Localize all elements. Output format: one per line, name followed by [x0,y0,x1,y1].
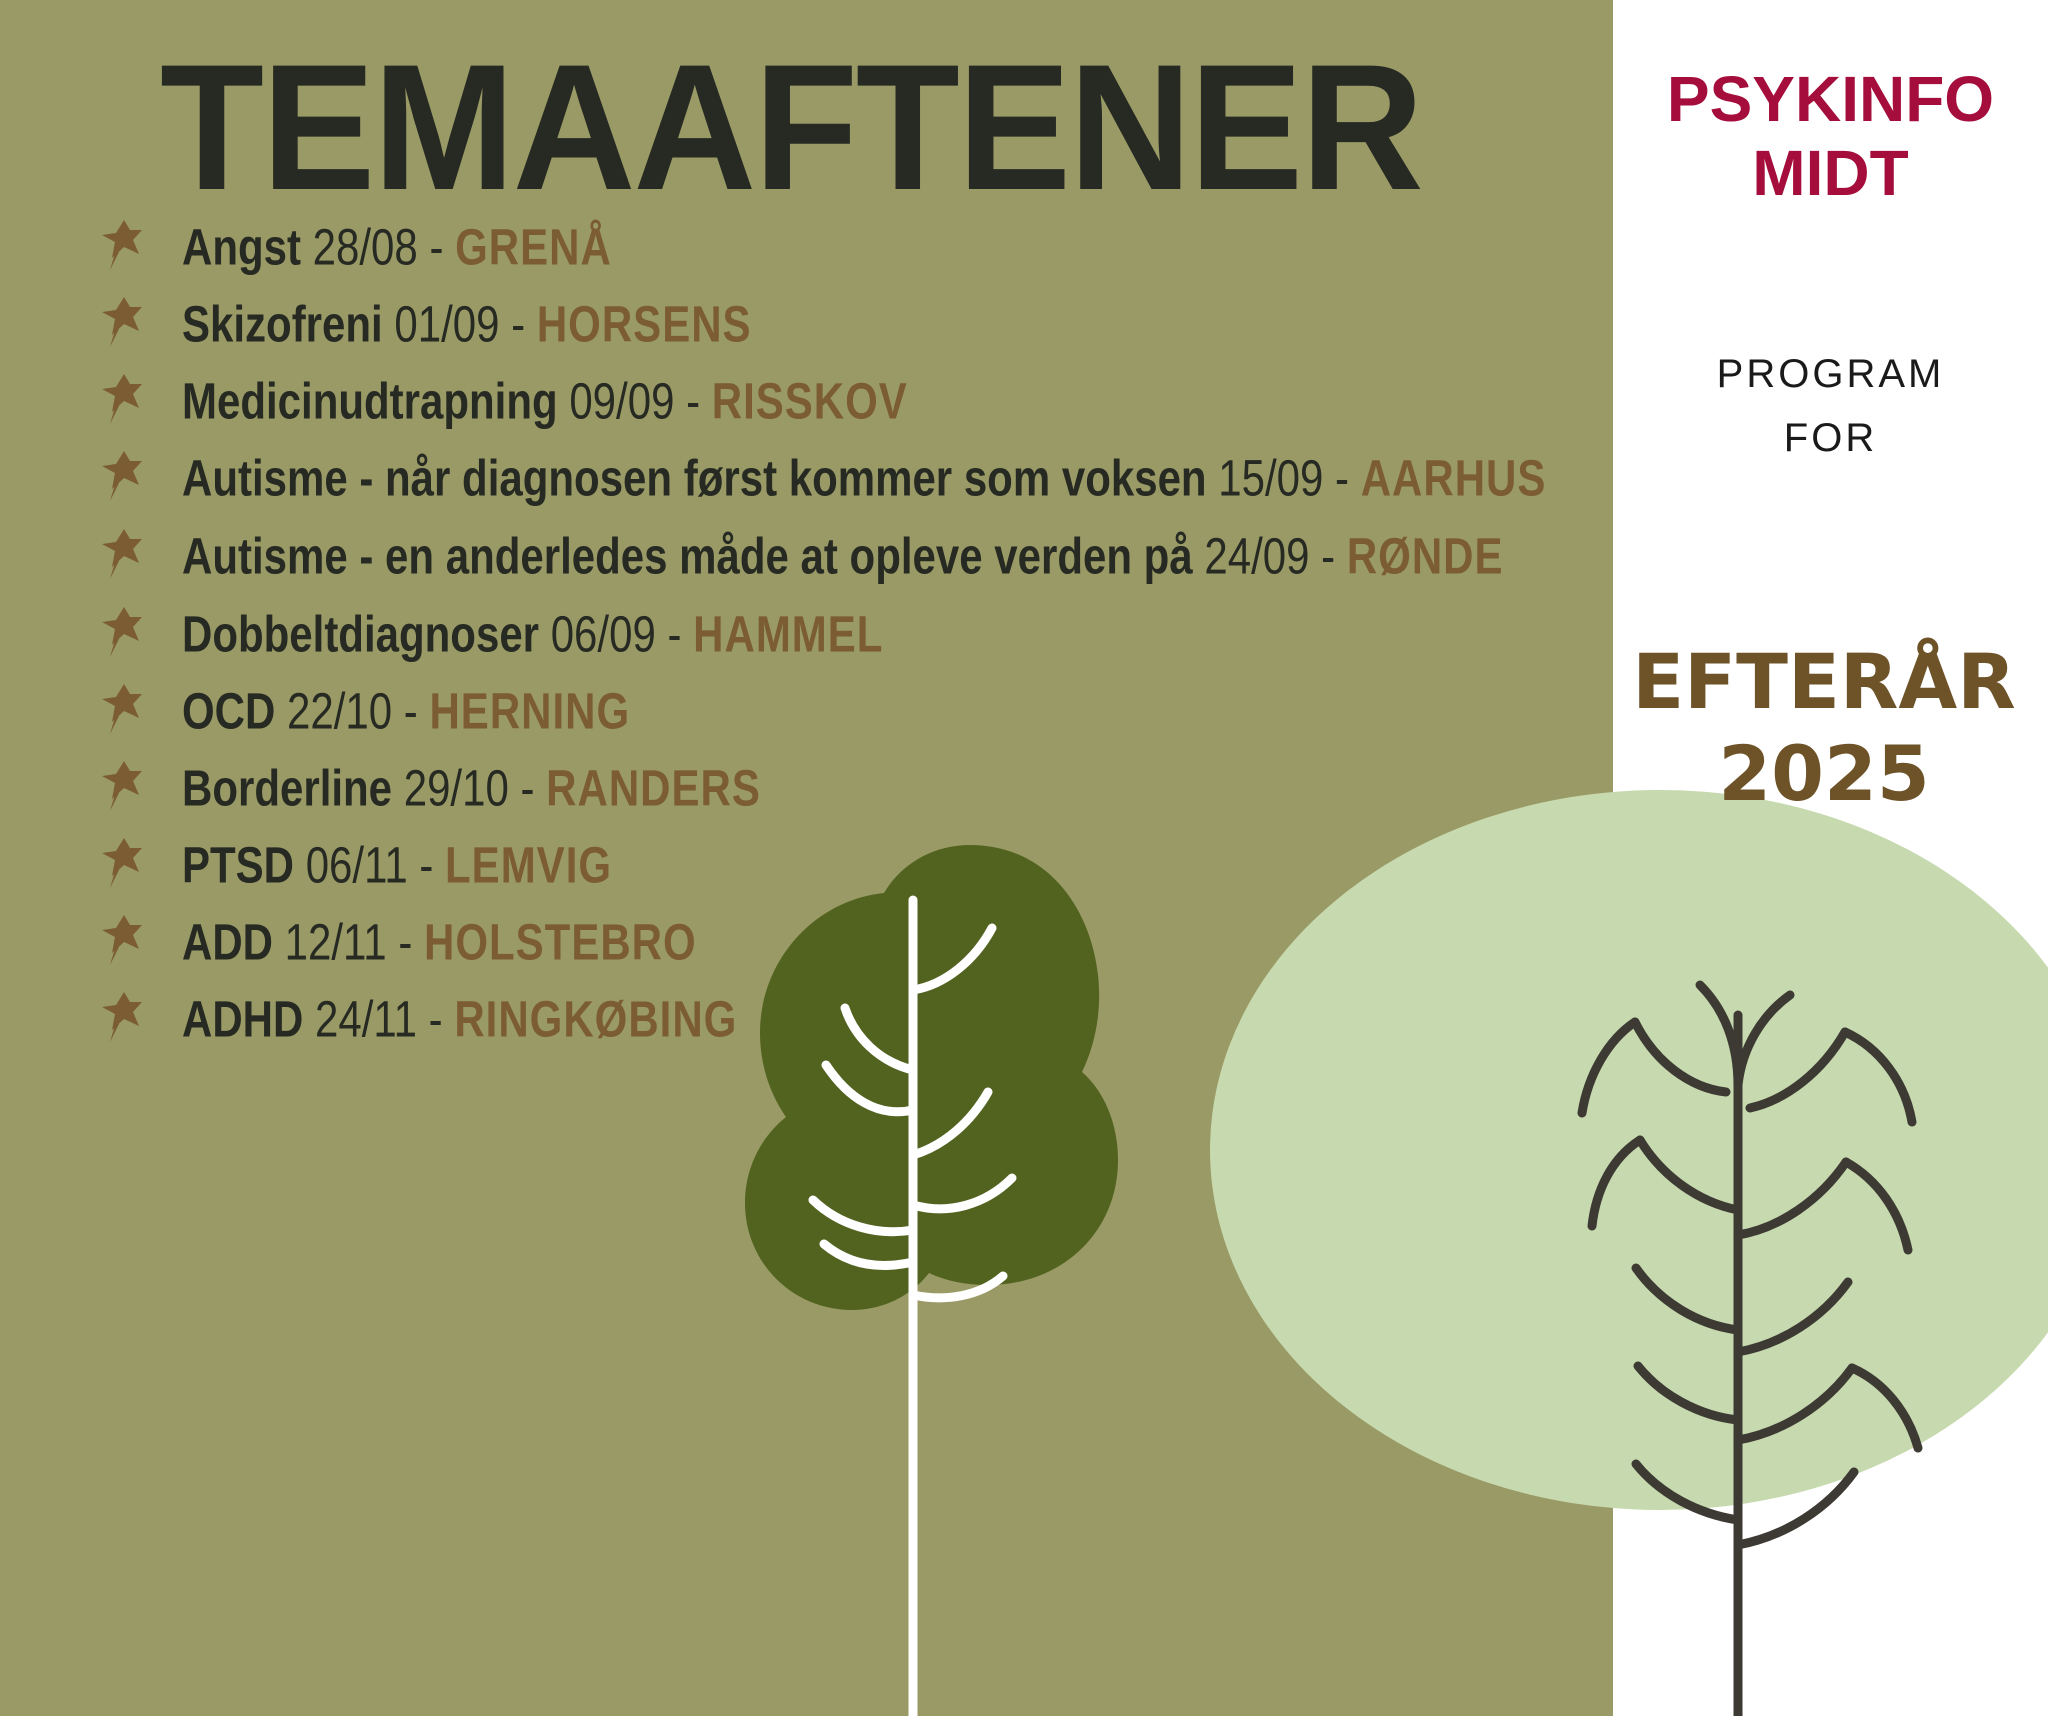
event-topic: Borderline [182,759,392,816]
pushpin-icon [96,525,152,581]
event-topic: Autisme - en anderledes måde at opleve v… [182,527,1193,584]
list-item-text: Medicinudtrapning 09/09 - RISSKOV [182,366,1596,437]
event-dash: - [404,682,418,739]
list-item-text: Autisme - når diagnosen først kommer som… [182,443,1596,514]
event-topic: Dobbeltdiagnoser [182,605,539,662]
list-item[interactable]: ADD 12/11 - HOLSTEBRO [96,907,1596,967]
event-topic: Autisme - når diagnosen først kommer som… [182,449,1207,506]
event-dash: - [511,295,525,352]
event-topic: Skizofreni [182,295,383,352]
right-white-column [1613,0,2048,1716]
list-item-text: Skizofreni 01/09 - HORSENS [182,289,1596,360]
list-item[interactable]: Autisme - når diagnosen først kommer som… [96,443,1596,503]
pushpin-icon [96,757,152,813]
season-word: EFTERÅR [1600,636,2048,728]
program-word: PROGRAM [1613,342,2048,406]
event-city: HAMMEL [693,605,883,662]
pushpin-icon [96,370,152,426]
pushpin-icon [96,911,152,967]
pushpin-icon [96,447,152,503]
list-item[interactable]: OCD 22/10 - HERNING [96,676,1596,736]
list-item-text: Autisme - en anderledes måde at opleve v… [182,521,1596,592]
list-item-text: Angst 28/08 - GRENÅ [182,212,1596,283]
event-dash: - [1321,527,1335,584]
event-date: 06/11 [306,836,408,893]
page-title: TEMAAFTENER [160,38,1672,217]
list-item-text: PTSD 06/11 - LEMVIG [182,830,1596,901]
event-date: 28/08 [313,218,418,275]
pushpin-icon [96,834,152,890]
pushpin-icon [96,216,152,272]
event-date: 12/11 [285,913,387,970]
event-city: RINGKØBING [454,990,737,1047]
list-item-text: ADD 12/11 - HOLSTEBRO [182,907,1596,978]
pushpin-icon [96,988,152,1044]
event-dash: - [429,990,443,1047]
event-city: RØNDE [1347,527,1504,584]
list-item[interactable]: Skizofreni 01/09 - HORSENS [96,289,1596,349]
list-item[interactable]: Borderline 29/10 - RANDERS [96,753,1596,813]
list-item[interactable]: Autisme - en anderledes måde at opleve v… [96,521,1596,581]
event-dash: - [1335,449,1349,506]
event-topic: ADD [182,913,273,970]
event-date: 22/10 [287,682,392,739]
brand-line-1: PSYKINFO [1613,62,2048,136]
list-item-text: Borderline 29/10 - RANDERS [182,753,1596,824]
list-item[interactable]: ADHD 24/11 - RINGKØBING [96,984,1596,1044]
event-date: 24/11 [315,990,417,1047]
event-dash: - [429,218,443,275]
list-item[interactable]: PTSD 06/11 - LEMVIG [96,830,1596,890]
season-year: 2025 [1600,728,2048,820]
event-topic: Angst [182,218,301,275]
poster-root: TEMAAFTENER Angst 28/08 - GRENÅ Skizofre… [0,0,2048,1716]
event-date: 24/09 [1204,527,1309,584]
for-word: FOR [1613,406,2048,470]
event-city: HERNING [429,682,630,739]
event-dash: - [521,759,535,816]
list-item[interactable]: Medicinudtrapning 09/09 - RISSKOV [96,366,1596,426]
event-city: RANDERS [546,759,761,816]
event-dash: - [667,605,681,662]
event-dash: - [419,836,433,893]
brand-line-2: MIDT [1613,136,2048,210]
event-date: 15/09 [1218,449,1323,506]
list-item[interactable]: Dobbeltdiagnoser 06/09 - HAMMEL [96,599,1596,659]
event-list: Angst 28/08 - GRENÅ Skizofreni 01/09 - H… [96,212,1596,1061]
event-date: 06/09 [551,605,656,662]
event-date: 29/10 [404,759,509,816]
event-city: HORSENS [537,295,752,352]
event-dash: - [398,913,412,970]
pushpin-icon [96,293,152,349]
event-dash: - [686,372,700,429]
event-city: LEMVIG [445,836,612,893]
event-date: 01/09 [394,295,499,352]
event-topic: Medicinudtrapning [182,372,558,429]
brand-logo: PSYKINFO MIDT [1613,62,2048,210]
pushpin-icon [96,680,152,736]
program-for-block: PROGRAM FOR [1613,342,2048,470]
event-topic: ADHD [182,990,303,1047]
list-item-text: OCD 22/10 - HERNING [182,676,1596,747]
event-city: AARHUS [1361,449,1547,506]
pushpin-icon [96,603,152,659]
event-city: RISSKOV [712,372,908,429]
event-topic: OCD [182,682,275,739]
season-block: EFTERÅR 2025 [1600,636,2048,820]
list-item-text: ADHD 24/11 - RINGKØBING [182,984,1596,1055]
list-item[interactable]: Angst 28/08 - GRENÅ [96,212,1596,272]
event-topic: PTSD [182,836,294,893]
list-item-text: Dobbeltdiagnoser 06/09 - HAMMEL [182,599,1596,670]
event-city: HOLSTEBRO [424,913,697,970]
event-city: GRENÅ [455,218,612,275]
event-date: 09/09 [569,372,674,429]
